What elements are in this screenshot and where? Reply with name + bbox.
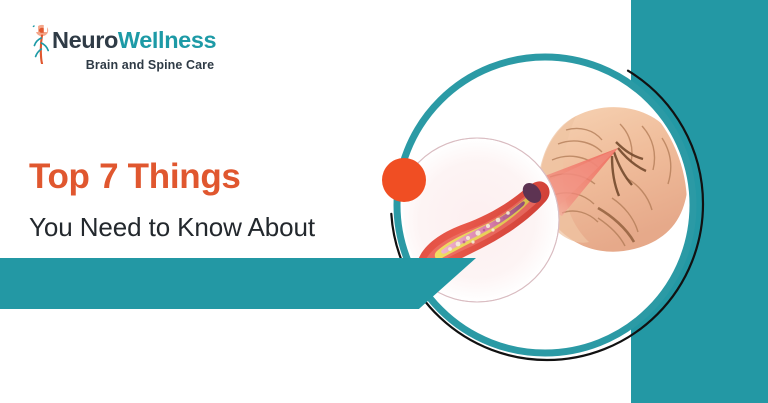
- headline-line-two: You Need to Know About: [29, 213, 315, 242]
- headline-line-one: Top 7 Things: [29, 158, 241, 197]
- orange-accent-dot: [382, 158, 426, 202]
- logo-tagline: Brain and Spine Care: [60, 58, 240, 72]
- title-banner: [0, 258, 476, 309]
- headline-line-three: Transient Ischemic Attack (TIA): [29, 13, 379, 37]
- banner-graphic-canvas: NeuroWellness Brain and Spine Care: [0, 0, 768, 403]
- tia-illustration-group: [380, 38, 720, 378]
